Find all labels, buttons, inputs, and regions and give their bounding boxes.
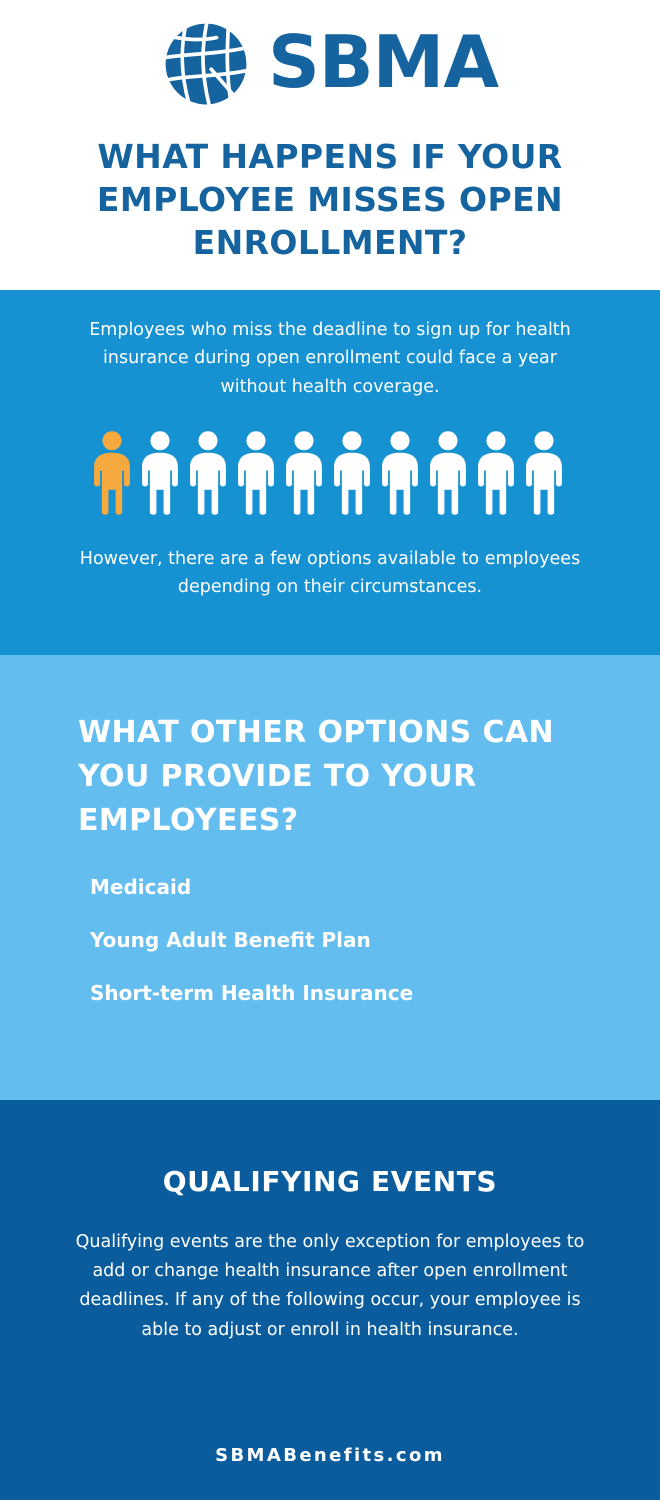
qualifying-events-paragraph: Qualifying events are the only exception… <box>60 1228 600 1345</box>
list-item: Short-term Health Insurance <box>90 983 610 1003</box>
brand-wordmark: SBMA <box>268 26 498 98</box>
person-figure-icon <box>472 430 520 516</box>
footer-website-url[interactable]: SBMABenefits.com <box>30 1447 630 1465</box>
person-figure-icon <box>88 430 136 516</box>
list-item: Medicaid <box>90 877 610 897</box>
person-figure-icon <box>184 430 232 516</box>
options-heading: WHAT OTHER OPTIONS CAN YOU PROVIDE TO YO… <box>78 711 618 843</box>
options-list: Medicaid Young Adult Benefit Plan Short-… <box>90 877 610 1036</box>
person-figure-icon <box>424 430 472 516</box>
options-section: WHAT OTHER OPTIONS CAN YOU PROVIDE TO YO… <box>0 655 660 1100</box>
brand-logo: SBMA <box>0 18 660 110</box>
person-figure-icon <box>520 430 568 516</box>
page-title: WHAT HAPPENS IF YOUR EMPLOYEE MISSES OPE… <box>30 136 630 265</box>
person-figure-icon <box>328 430 376 516</box>
people-pictogram <box>88 430 572 516</box>
globe-sphere-logo-icon <box>162 20 250 108</box>
problem-paragraph-bottom: However, there are a few options availab… <box>70 545 590 602</box>
section-divider-notch <box>537 365 570 370</box>
header-section: SBMA WHAT HAPPENS IF YOUR EMPLOYEE MISSE… <box>0 0 660 290</box>
problem-paragraph-top: Employees who miss the deadline to sign … <box>70 316 590 401</box>
person-figure-icon <box>376 430 424 516</box>
person-figure-icon <box>280 430 328 516</box>
person-figure-icon <box>232 430 280 516</box>
person-figure-icon <box>136 430 184 516</box>
qualifying-events-section: QUALIFYING EVENTS Qualifying events are … <box>0 1100 660 1500</box>
problem-section: Employees who miss the deadline to sign … <box>0 290 660 655</box>
qualifying-events-heading: QUALIFYING EVENTS <box>30 1168 630 1196</box>
list-item: Young Adult Benefit Plan <box>90 930 610 950</box>
